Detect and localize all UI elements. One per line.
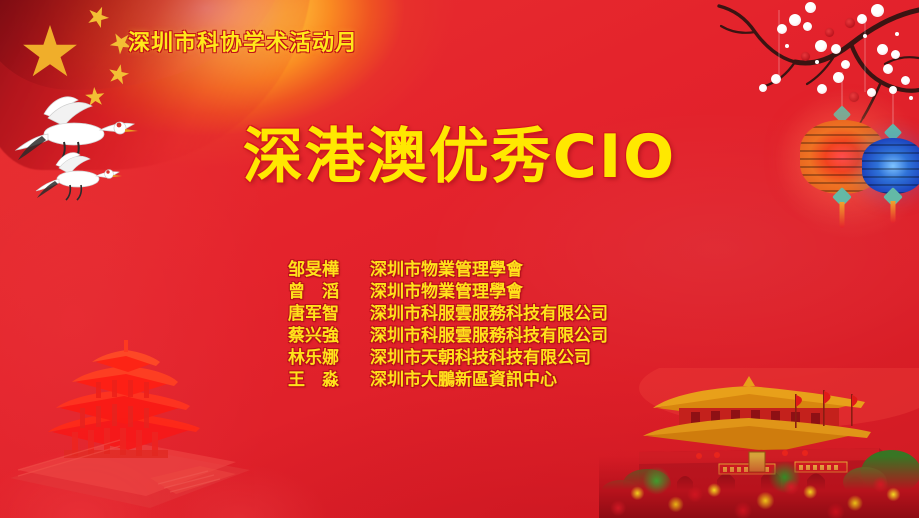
blossom-flower [883, 64, 893, 74]
blossom-flower [817, 84, 827, 94]
list-item: 林乐娜 深圳市天朝科技科技有限公司 [288, 348, 608, 369]
blossom-flower [803, 22, 812, 31]
blossom-flower-red [801, 52, 810, 61]
blossom-flower-red [825, 28, 834, 37]
blossom-bud [815, 60, 819, 64]
blossom-flower [831, 44, 841, 54]
blossom-flower [877, 44, 888, 55]
blossom-flower [771, 74, 781, 84]
blossom-flower [759, 84, 767, 92]
blossom-bud [863, 34, 867, 38]
honoree-name: 唐军智 [288, 304, 370, 325]
blossom-flower [901, 76, 910, 85]
lantern-tassel [891, 201, 896, 223]
blossom-bud [909, 96, 913, 100]
blossom-flower [815, 40, 827, 52]
page-title: 深港澳优秀CIO [0, 108, 919, 195]
honoree-name: 王 淼 [288, 370, 370, 391]
honoree-name: 曾 滔 [288, 282, 370, 303]
honoree-organization: 深圳市科服雲服務科技有限公司 [370, 304, 608, 325]
blossom-flower [777, 24, 787, 34]
blossom-bud [895, 32, 899, 36]
list-item: 蔡兴強 深圳市科服雲服務科技有限公司 [288, 326, 608, 347]
blossom-flower [805, 2, 816, 13]
blossom-flower [857, 14, 867, 24]
blossom-flower [891, 50, 900, 59]
blossom-flower [789, 14, 801, 26]
tiananmen-gate-icon [599, 368, 919, 518]
honoree-organization: 深圳市天朝科技科技有限公司 [370, 348, 591, 369]
honoree-name: 林乐娜 [288, 348, 370, 369]
honoree-organization: 深圳市物業管理學會 [370, 260, 523, 281]
honoree-organization: 深圳市物業管理學會 [370, 282, 523, 303]
honoree-organization: 深圳市科服雲服務科技有限公司 [370, 326, 608, 347]
event-header-text: 深圳市科协学术活动月 [128, 25, 358, 57]
honoree-name: 蔡兴強 [288, 326, 370, 347]
list-item: 邹旻樺 深圳市物業管理學會 [288, 260, 608, 281]
blossom-flower-red [849, 92, 859, 102]
blossom-flower [871, 4, 884, 17]
pagoda-icon [0, 328, 300, 518]
blossom-flower [841, 60, 850, 69]
presentation-slide: 深圳市科协学术活动月 深港澳优秀CIO 邹旻樺 深圳市物業管理學會 曾 滔 深圳… [0, 0, 919, 518]
blossom-bud [785, 44, 789, 48]
list-item: 唐军智 深圳市科服雲服務科技有限公司 [288, 304, 608, 325]
list-item: 曾 滔 深圳市物業管理學會 [288, 282, 608, 303]
lantern-tassel [840, 202, 845, 228]
flower-bed-icon [599, 456, 919, 518]
blossom-flower-red [845, 18, 855, 28]
honoree-list: 邹旻樺 深圳市物業管理學會 曾 滔 深圳市物業管理學會 唐军智 深圳市科服雲服務… [288, 260, 608, 391]
blossom-flower [867, 88, 876, 97]
honoree-name: 邹旻樺 [288, 260, 370, 281]
list-item: 王 淼 深圳市大鵬新區資訊中心 [288, 370, 608, 391]
honoree-organization: 深圳市大鵬新區資訊中心 [370, 370, 557, 391]
